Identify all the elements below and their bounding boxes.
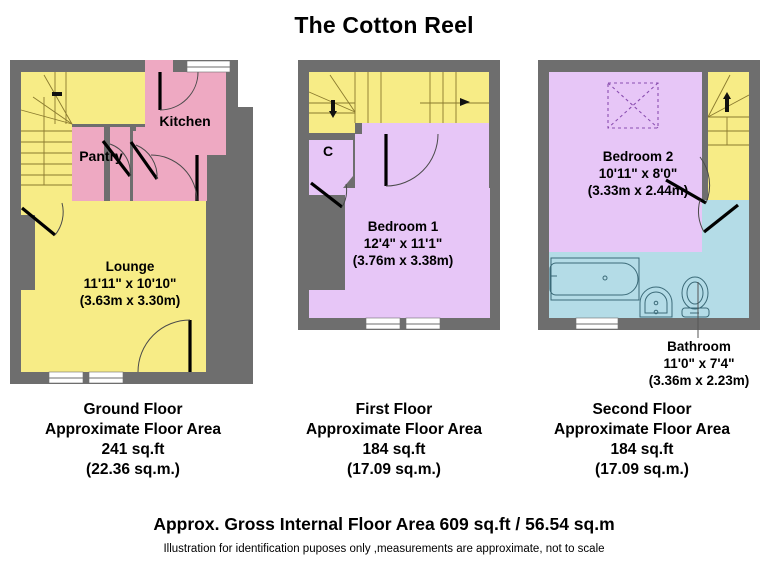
floor-area-sqft-first: 184 sq.ft [270,440,518,460]
floor-area-sqm-first: (17.09 sq.m.) [270,460,518,480]
room-dim-imperial-bedroom1: 12'4" x 11'1" [318,235,488,252]
room-label-kitchen: Kitchen [140,113,230,130]
floor-caption-ground: Ground Floor Approximate Floor Area 241 … [2,400,264,480]
room-dim-metric-bedroom2: (3.33m x 2.44m) [548,182,728,199]
room-name-pantry: Pantry [56,148,146,165]
room-name-cupboard: C [308,143,348,160]
floor-name-ground: Ground Floor [2,400,264,420]
room-name-bathroom: Bathroom [630,338,768,355]
room-name-bedroom2: Bedroom 2 [548,148,728,165]
floor-caption-first: First Floor Approximate Floor Area 184 s… [270,400,518,480]
room-dim-imperial-bathroom: 11'0" x 7'4" [630,355,768,372]
second-floor-plan [538,60,760,338]
floor-caption-second: Second Floor Approximate Floor Area 184 … [516,400,768,480]
disclaimer-text: Illustration for identification puposes … [0,543,768,555]
floor-name-second: Second Floor [516,400,768,420]
room-dim-metric-bathroom: (3.36m x 2.23m) [630,372,768,389]
room-label-bedroom1: Bedroom 1 12'4" x 11'1" (3.76m x 3.38m) [318,218,488,269]
ground-floor-left-wall-notch [10,215,35,290]
floor-area-sqm-second: (17.09 sq.m.) [516,460,768,480]
ground-floor-stair-direction-arrow [52,92,62,96]
floor-area-sqm-ground: (22.36 sq.m.) [2,460,264,480]
floor-area-label-first: Approximate Floor Area [270,420,518,440]
room-dim-metric-lounge: (3.63m x 3.30m) [40,292,220,309]
floor-area-sqft-second: 184 sq.ft [516,440,768,460]
room-label-cupboard: C [308,143,348,160]
second-floor-windows [576,318,618,329]
room-label-pantry: Pantry [56,148,146,165]
first-floor-stair-area [309,72,489,123]
floor-area-sqft-ground: 241 sq.ft [2,440,264,460]
room-label-lounge: Lounge 11'11" x 10'10" (3.63m x 3.30m) [40,258,220,309]
ground-floor-stair-lower [21,185,72,201]
floor-area-label-second: Approximate Floor Area [516,420,768,440]
room-name-kitchen: Kitchen [140,113,230,130]
room-dim-imperial-bedroom2: 10'11" x 8'0" [548,165,728,182]
room-label-bathroom: Bathroom 11'0" x 7'4" (3.36m x 2.23m) [630,338,768,389]
second-floor-bathroom-strip [702,200,749,318]
room-name-bedroom1: Bedroom 1 [318,218,488,235]
room-name-lounge: Lounge [40,258,220,275]
gross-internal-floor-area: Approx. Gross Internal Floor Area 609 sq… [0,514,768,535]
room-dim-metric-bedroom1: (3.76m x 3.38m) [318,252,488,269]
ground-floor-plan [10,60,253,384]
floor-name-first: First Floor [270,400,518,420]
first-floor-plan [298,60,500,330]
room-label-bedroom2: Bedroom 2 10'11" x 8'0" (3.33m x 2.44m) [548,148,728,199]
first-floor-stair-landing [309,123,355,133]
ground-floor-kitchen-top-nub [145,60,173,72]
floor-area-label-ground: Approximate Floor Area [2,420,264,440]
room-dim-imperial-lounge: 11'11" x 10'10" [40,275,220,292]
floorplan-page: The Cotton Reel [0,0,768,576]
